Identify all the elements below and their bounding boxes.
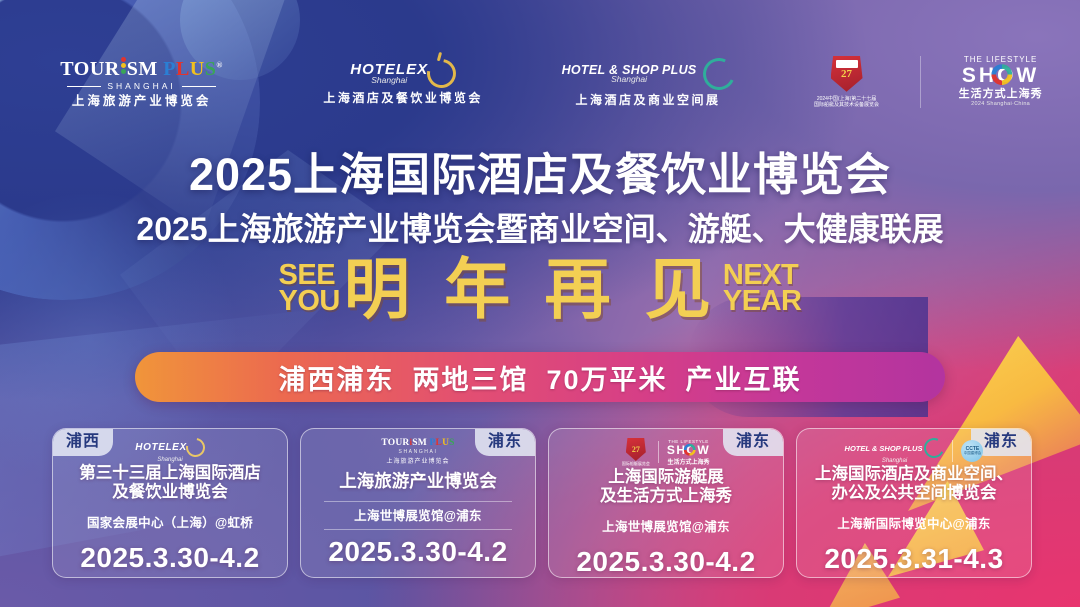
card-date: 2025.3.30-4.2 — [576, 546, 755, 578]
logo-lifestyle-show: THE LIFESTYLE SHOW 生活方式上海秀 2024 Shanghai… — [920, 56, 1080, 108]
card-title-line2: 办公及公共空间博览会 — [815, 484, 1013, 503]
boat-caption-line2: 国际船艇及其技术设备展览会 — [814, 102, 879, 108]
card-title: 上海旅游产业博览会 — [339, 471, 497, 492]
event-card[interactable]: 浦东 TOURiSM PLUS SHANGHAI 上海旅游产业博览会 上海旅游产… — [300, 428, 536, 578]
card-logo-divider — [952, 440, 953, 462]
highlight-pill: 浦西浦东两地三馆70万平米产业互联 — [135, 352, 945, 402]
tourism-plus-part1: TOUR — [60, 58, 119, 80]
logo-boat-show: 27 2024中国(上海)第二十七届 国际船艇及其技术设备展览会 — [773, 56, 920, 109]
card-venue: 国家会展中心（上海）@虹桥 — [87, 512, 253, 531]
card-title: 第三十三届上海国际酒店 及餐饮业博览会 — [79, 464, 261, 503]
pill-part-4: 产业互联 — [686, 365, 802, 395]
headline-secondary: 2025上海旅游产业博览会暨商业空间、游艇、大健康联展 — [0, 204, 1080, 250]
hsp-ring-icon — [698, 53, 739, 94]
pill-text: 浦西浦东两地三馆70万平米产业互联 — [278, 358, 801, 397]
lifestyle-cn-name: 生活方式上海秀 — [959, 89, 1043, 101]
logo-hotel-shop-plus: HOTEL & SHOP PLUS Shanghai 上海酒店及商业空间展 — [523, 58, 773, 107]
card-date: 2025.3.30-4.2 — [80, 542, 259, 574]
hotelex-cn-name: 上海酒店及餐饮业博览会 — [323, 92, 483, 105]
pill-part-3: 70万平米 — [546, 365, 667, 395]
see-you-next-year-block: SEE YOU 明 年 再 见 NEXT YEAR — [0, 256, 1080, 322]
card-logo-divider — [658, 441, 659, 463]
hotelex-wordmark: HOTELEX Shanghai — [350, 59, 456, 88]
card-date: 2025.3.30-4.2 — [328, 536, 507, 568]
hsp-cn-name: 上海酒店及商业空间展 — [576, 94, 721, 107]
card-title-line2: 及生活方式上海秀 — [600, 487, 732, 506]
card-date: 2025.3.31-4.3 — [824, 543, 1003, 575]
hsp-mark-icon: HOTEL & SHOP PLUS — [845, 438, 945, 458]
card-logo-boat-lifestyle: 27 国际船艇展览会 THE LIFESTYLE SHOW 生活方式上海秀 — [622, 438, 710, 467]
year-text: YEAR — [723, 289, 802, 315]
hotelex-mark-city: Shanghai — [157, 457, 182, 463]
card-title-line2: 及餐饮业博览会 — [79, 483, 261, 502]
tourism-plus-part2: SM — [127, 58, 158, 80]
logo-hotelex: HOTELEX Shanghai 上海酒店及餐饮业博览会 — [283, 59, 523, 105]
event-cards: 浦西 HOTELEX Shanghai 第三十三届上海国际酒店 及餐饮业博览会 … — [52, 428, 1032, 578]
tourism-plus-cn-name: 上海旅游产业博览会 — [72, 95, 212, 108]
next-year-english: NEXT YEAR — [723, 263, 802, 314]
card-title: 上海国际游艇展 及生活方式上海秀 — [600, 468, 732, 507]
card-title-line1: 上海国际酒店及商业空间、 — [815, 465, 1013, 484]
promo-banner: TOURSM PLUS® SHANGHAI 上海旅游产业博览会 HOTELEX … — [0, 0, 1080, 607]
card-title: 上海国际酒店及商业空间、 办公及公共空间博览会 — [815, 465, 1013, 504]
pill-part-1: 浦西浦东 — [278, 365, 394, 395]
card-title-line1: 上海国际游艇展 — [600, 468, 732, 487]
card-title-line1: 第三十三届上海国际酒店 — [79, 464, 261, 483]
headline-primary: 2025上海国际酒店及餐饮业博览会 — [0, 138, 1080, 203]
lifestyle-color-ring-icon — [991, 64, 1012, 85]
event-card[interactable]: 浦东 HOTEL & SHOP PLUS Shanghai CCTE中国建博会 — [796, 428, 1032, 578]
lifestyle-mark-icon: THE LIFESTYLE SHOW 生活方式上海秀 — [667, 439, 710, 466]
hotelex-swoosh-icon — [421, 54, 461, 94]
card-logo-hotelex: HOTELEX Shanghai — [135, 438, 204, 463]
tourism-plus-mark-icon: TOURiSM PLUS SHANGHAI 上海旅游产业博览会 — [381, 438, 454, 465]
see-you-chinese: 明 年 再 见 — [340, 256, 723, 322]
card-logo-hsp-ccte: HOTEL & SHOP PLUS Shanghai CCTE中国建博会 — [845, 438, 984, 464]
see-you-english: SEE YOU — [279, 263, 340, 314]
boat-mark-caption: 国际船艇展览会 — [622, 462, 650, 467]
logo-strip: TOURSM PLUS® SHANGHAI 上海旅游产业博览会 HOTELEX … — [0, 46, 1080, 118]
hsp-mark-city: Shanghai — [882, 458, 907, 464]
card-venue: 上海新国际博览中心@浦东 — [837, 513, 990, 532]
tourism-plus-part3: PLUS — [163, 58, 216, 80]
card-divider — [324, 529, 512, 530]
you-text: YOU — [279, 289, 340, 315]
tourism-traffic-light-icon — [120, 56, 127, 75]
pill-part-2: 两地三馆 — [412, 365, 528, 395]
hotelex-mark-icon: HOTELEX — [135, 438, 204, 457]
boat-shield-icon: 27 — [831, 56, 863, 92]
boat-horse-icon — [836, 60, 858, 68]
registered-icon: ® — [216, 60, 222, 69]
logo-tourism-plus: TOURSM PLUS® SHANGHAI 上海旅游产业博览会 — [0, 56, 283, 108]
tourism-plus-city: SHANGHAI — [22, 82, 261, 91]
event-card[interactable]: 浦西 HOTELEX Shanghai 第三十三届上海国际酒店 及餐饮业博览会 … — [52, 428, 288, 578]
card-venue: 上海世博展览馆@浦东 — [602, 516, 730, 535]
event-card[interactable]: 浦东 27 国际船艇展览会 THE LIFESTYLE SHOW 生活方式上海秀 — [548, 428, 784, 578]
boat-edition-number: 27 — [841, 69, 852, 80]
tourism-plus-wordmark: TOURSM PLUS® — [60, 56, 223, 80]
hsp-wordmark: HOTEL & SHOP PLUS Shanghai — [562, 58, 735, 90]
card-divider — [324, 501, 512, 502]
lifestyle-show-word: SHOW — [962, 65, 1039, 86]
lifestyle-sub-text: 2024 Shanghai·China — [971, 102, 1030, 108]
card-title-line1: 上海旅游产业博览会 — [339, 471, 497, 492]
boat-shield-mark-icon: 27 — [626, 438, 646, 461]
ccte-mark-icon: CCTE中国建博会 — [961, 440, 983, 462]
card-logo-tourism-plus: TOURiSM PLUS SHANGHAI 上海旅游产业博览会 — [381, 438, 454, 465]
card-venue: 上海世博展览馆@浦东 — [354, 505, 482, 524]
